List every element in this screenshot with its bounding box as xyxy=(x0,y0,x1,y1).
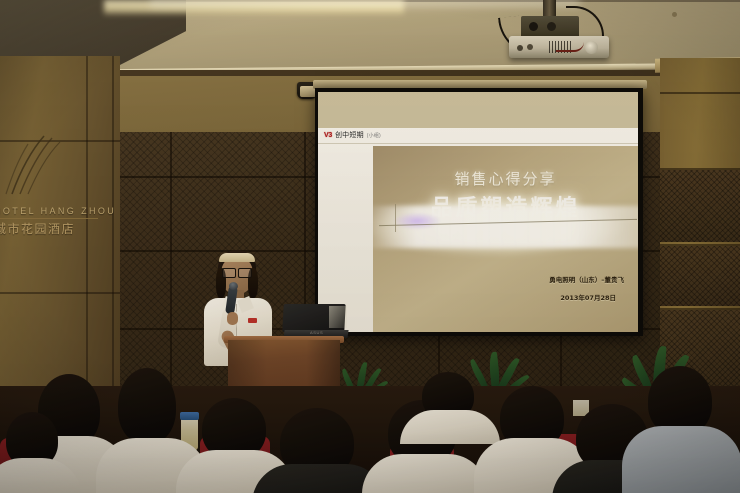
slide-title: 销售心得分享 xyxy=(373,168,638,189)
slide-date: 2013年07月28日 xyxy=(560,292,616,302)
projector-bracket xyxy=(521,16,579,38)
audience-member xyxy=(0,412,70,493)
slide-lens-flare xyxy=(383,208,453,234)
audience-member xyxy=(634,366,728,493)
app-titlebar-divider xyxy=(318,143,638,144)
presenter-chest-logo xyxy=(248,318,257,323)
hotel-sign-chinese: 城市花园酒店 xyxy=(0,220,75,237)
hotel-sign-rule xyxy=(0,218,98,219)
presenter-headband xyxy=(219,253,255,262)
presenter-glasses xyxy=(222,268,252,276)
conference-room-photo: HOTEL HANG ZHOU 城市花园酒店 V3 创中短期 (小组) xyxy=(0,0,740,493)
audience-member xyxy=(410,372,490,432)
ceiling-fixture-dot xyxy=(672,12,677,17)
app-titlebar: V3 创中短期 (小组) xyxy=(318,128,638,142)
hotel-sign-english: HOTEL HANG ZHOU xyxy=(0,206,116,216)
laptop-screen-glow xyxy=(329,306,347,328)
projection-screen: V3 创中短期 (小组) 销售心得分享 品质塑造辉煌 品质塑造辉煌 勇电照明（山… xyxy=(318,92,638,332)
laptop-brand-label: ASUS xyxy=(310,330,323,335)
cove-light-secondary xyxy=(150,0,580,9)
app-title: 创中短期 xyxy=(335,130,364,140)
projector-knob xyxy=(517,45,523,51)
presenter-hand xyxy=(227,312,238,325)
projector-lens xyxy=(585,41,598,54)
presentation-slide: 销售心得分享 品质塑造辉煌 品质塑造辉煌 勇电照明（山东）–董贵飞 2013年0… xyxy=(373,146,638,332)
app-title-subtitle: (小组) xyxy=(367,132,381,139)
hotel-wall-sign: HOTEL HANG ZHOU 城市花园酒店 xyxy=(0,150,104,230)
slide-byline: 勇电照明（山东）–董贵飞 xyxy=(549,274,624,284)
app-logo: V3 xyxy=(324,132,332,139)
projected-app-window: V3 创中短期 (小组) 销售心得分享 品质塑造辉煌 品质塑造辉煌 勇电照明（山… xyxy=(318,128,638,332)
audience-member xyxy=(258,408,378,493)
slide-crosshair xyxy=(395,204,396,232)
